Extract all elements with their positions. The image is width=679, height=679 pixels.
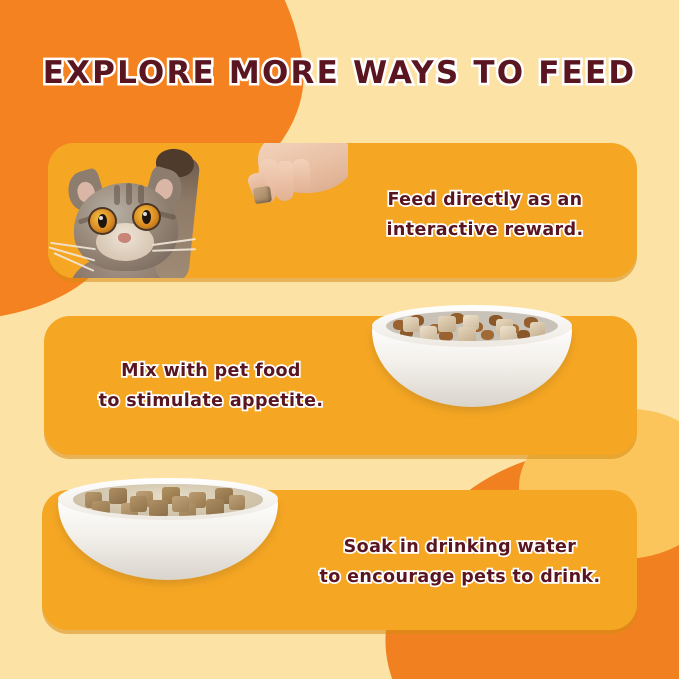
soaked-cube — [229, 495, 245, 510]
panel-1-caption: Feed directly as an interactive reward. — [330, 185, 640, 245]
soaked-cube — [206, 499, 224, 516]
freeze-dried-cube — [530, 322, 545, 336]
page-title: Explore More Ways To Feed — [0, 55, 679, 91]
freeze-dried-treat-cube — [253, 186, 272, 204]
panel-3-image-bowl-of-soaked-cubes — [58, 478, 278, 640]
cat-forehead-stripe-1 — [114, 185, 120, 205]
cat-forehead-stripe-2 — [126, 183, 132, 205]
panel-2-image-bowl-of-kibble — [372, 305, 572, 455]
soaked-cube — [109, 488, 127, 504]
cat-eye-left — [88, 207, 117, 235]
panel-2-caption: Mix with pet food to stimulate appetite. — [46, 356, 376, 416]
bowl-contents-kibble-and-cubes — [386, 311, 558, 341]
soaked-cube — [92, 501, 110, 516]
cat-pupil-left — [98, 214, 107, 228]
cat-nose — [118, 233, 131, 243]
freeze-dried-cube — [500, 326, 516, 341]
cat-illustration — [56, 161, 206, 278]
cat-eye-right — [132, 203, 161, 231]
freeze-dried-cube — [420, 326, 437, 341]
panel-1-image-cat-with-hand — [48, 143, 348, 278]
poster-canvas: Explore More Ways To Feed — [0, 0, 679, 679]
freeze-dried-cube — [438, 316, 456, 332]
kibble-piece — [481, 330, 494, 340]
panel-3-caption: Soak in drinking water to encourage pets… — [280, 532, 640, 592]
soaked-cube — [130, 496, 147, 512]
freeze-dried-cube — [403, 317, 419, 332]
cat-pupil-right — [142, 210, 151, 224]
soaked-cube — [149, 500, 168, 516]
kibble-piece — [439, 331, 453, 341]
freeze-dried-cube — [458, 327, 476, 341]
soaked-cube — [172, 496, 189, 512]
finger-ring — [292, 159, 311, 194]
cat-forehead-stripe-3 — [138, 185, 144, 204]
kibble-piece — [517, 330, 530, 340]
bowl-contents-soaked-cubes-in-water — [73, 484, 262, 516]
